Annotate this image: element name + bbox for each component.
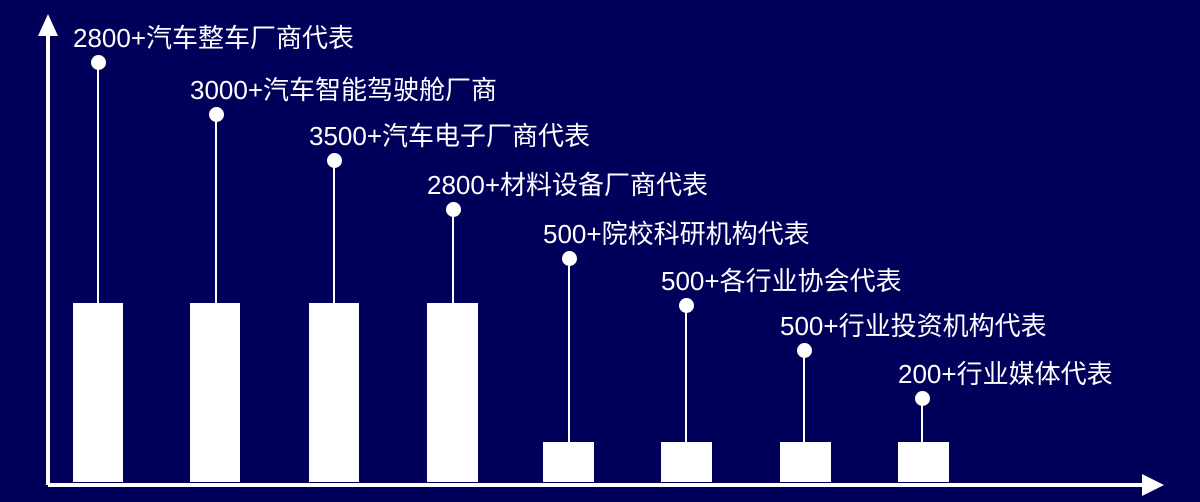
data-point-marker-6 bbox=[679, 298, 694, 313]
bar-3 bbox=[309, 303, 359, 482]
data-point-marker-5 bbox=[562, 251, 577, 266]
data-point-marker-2 bbox=[209, 107, 224, 122]
bar-4 bbox=[427, 303, 478, 482]
data-label-1: 2800+汽车整车厂商代表 bbox=[73, 23, 354, 53]
data-label-8: 200+行业媒体代表 bbox=[898, 359, 1113, 389]
chart-axes bbox=[0, 0, 1200, 502]
x-axis-arrowhead bbox=[1142, 474, 1164, 496]
leader-line-1 bbox=[97, 69, 99, 303]
data-label-3: 3500+汽车电子厂商代表 bbox=[309, 121, 590, 151]
data-label-6: 500+各行业协会代表 bbox=[661, 266, 902, 296]
bar-6 bbox=[661, 442, 712, 482]
data-label-7: 500+行业投资机构代表 bbox=[780, 311, 1047, 341]
leader-line-6 bbox=[685, 312, 687, 442]
y-axis-arrowhead bbox=[38, 14, 58, 36]
data-label-2: 3000+汽车智能驾驶舱厂商 bbox=[190, 75, 497, 105]
data-point-marker-8 bbox=[915, 391, 930, 406]
leader-line-2 bbox=[215, 121, 217, 303]
bar-1 bbox=[73, 303, 123, 482]
data-point-marker-1 bbox=[91, 55, 106, 70]
leader-line-7 bbox=[803, 357, 805, 442]
chart-canvas: 2800+汽车整车厂商代表 3000+汽车智能驾驶舱厂商 3500+汽车电子厂商… bbox=[0, 0, 1200, 502]
bar-2 bbox=[190, 303, 240, 482]
leader-line-3 bbox=[333, 167, 335, 303]
bar-7 bbox=[780, 442, 831, 482]
bar-8 bbox=[898, 442, 949, 482]
data-point-marker-7 bbox=[797, 343, 812, 358]
data-point-marker-3 bbox=[327, 153, 342, 168]
leader-line-8 bbox=[921, 405, 923, 442]
bar-5 bbox=[543, 442, 594, 482]
leader-line-4 bbox=[452, 216, 454, 303]
data-point-marker-4 bbox=[446, 202, 461, 217]
data-label-4: 2800+材料设备厂商代表 bbox=[427, 170, 708, 200]
data-label-5: 500+院校科研机构代表 bbox=[543, 219, 810, 249]
leader-line-5 bbox=[568, 265, 570, 442]
